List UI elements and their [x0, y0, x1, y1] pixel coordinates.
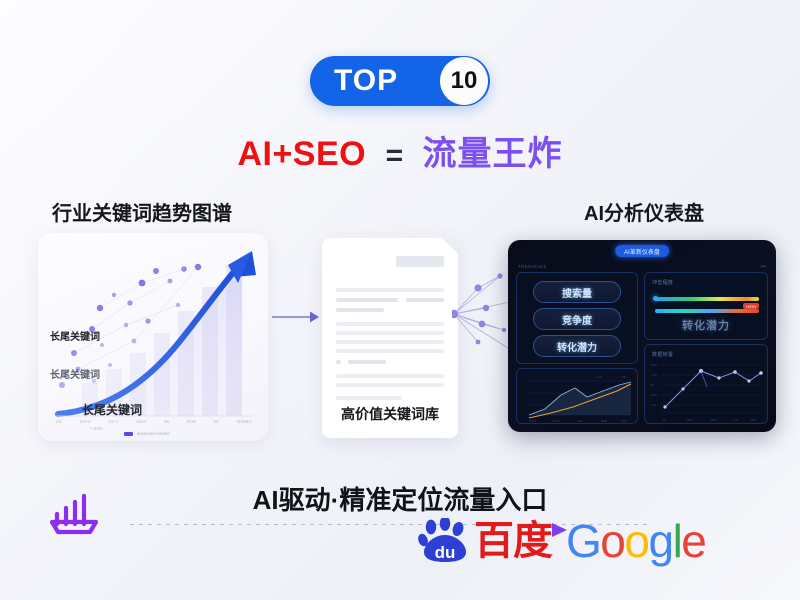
- google-letter-e: e: [681, 515, 705, 567]
- trend-axis-subtitle: + 63tn: [90, 426, 103, 431]
- legend-label: keyword-volume: [137, 431, 170, 436]
- metric-pill-search-volume[interactable]: 搜索量: [533, 281, 621, 303]
- area-chart-panel: PV-1K11.5K 4.8K9Kdp 1507 —— 1.0K—— 3.8K: [516, 368, 638, 424]
- google-letter-o1: o: [600, 515, 624, 567]
- google-letter-g2: g: [648, 515, 672, 567]
- doc-text-line: [348, 360, 386, 364]
- page-fold-icon: [442, 238, 458, 254]
- axis-tick: 1844: [136, 419, 147, 424]
- svg-text:1507: 1507: [621, 419, 627, 423]
- bottom-tagline: AI驱动·精准定位流量入口: [0, 480, 800, 517]
- dashboard-topbar: AI革新仪表盘: [508, 240, 776, 262]
- trend-label-1: 长尾关键词: [50, 328, 100, 343]
- gauge-panel: 冲击程度 HIGH 转化潜力: [644, 272, 768, 340]
- top-rank-badge: TOP 10: [310, 56, 490, 106]
- doc-text-line: [406, 298, 444, 302]
- doc-text-line: [336, 288, 444, 292]
- svg-text:5K: 5K: [651, 383, 654, 387]
- dashboard-menu-icon[interactable]: •••: [761, 264, 766, 270]
- google-letter-g1: G: [566, 515, 600, 567]
- baidu-logo[interactable]: du 百度: [418, 518, 552, 564]
- doc-bullet-icon: [336, 360, 341, 364]
- doc-header-block: [396, 256, 444, 267]
- gauge-handle-icon[interactable]: [653, 296, 658, 301]
- metric-pill-competition[interactable]: 竞争度: [533, 308, 621, 330]
- axis-tick: 4K: [56, 419, 62, 424]
- doc-caption: 高价值关键词库: [322, 404, 458, 424]
- metric-pills-panel: 搜索量 竞争度 转化潜力: [516, 272, 638, 364]
- svg-text:11.5K: 11.5K: [553, 419, 560, 423]
- svg-text:5K14: 5K14: [711, 418, 718, 422]
- doc-text-line: [336, 322, 444, 326]
- svg-text:9Kdp: 9Kdp: [601, 419, 608, 423]
- doc-text-line: [336, 308, 384, 312]
- doc-text-line: [336, 331, 444, 335]
- axis-tick: 03.C: [109, 419, 119, 424]
- flow-arrow-right-icon: [272, 310, 320, 324]
- baidu-mark-text: du: [435, 543, 456, 562]
- doc-text-line: [336, 349, 444, 353]
- dashboard-brand: TRENDtrack: [518, 264, 546, 269]
- svg-text:PV-1K: PV-1K: [529, 419, 537, 423]
- search-engine-logos: du 百度 Google: [418, 518, 705, 564]
- trend-chart-card: 长尾关键词 长尾关键词 长尾关键词 4K 11K% 03.C 1844 4K 5…: [38, 233, 268, 441]
- doc-text-line: [336, 298, 398, 302]
- headline-right: 流量王炸: [423, 135, 563, 173]
- headline-equals: =: [386, 139, 404, 172]
- trend-label-3: 长尾关键词: [82, 401, 142, 418]
- headline-left: AI+SEO: [237, 135, 366, 173]
- google-letter-l: l: [673, 515, 682, 567]
- google-logo[interactable]: Google: [566, 518, 705, 564]
- node-network-graph: [452, 268, 514, 354]
- metric-pill-conversion[interactable]: 转化潜力: [533, 335, 621, 357]
- trend-label-2: 长尾关键词: [50, 366, 100, 381]
- svg-text:—— 1.0K: —— 1.0K: [591, 375, 603, 379]
- doc-text-line: [336, 396, 402, 400]
- svg-text:7.5K: 7.5K: [733, 418, 739, 422]
- right-section-title: AI分析仪表盘: [584, 197, 704, 226]
- ai-dashboard-panel: AI革新仪表盘 TRENDtrack ••• 搜索量 竞争度 转化潜力 PV-1…: [508, 240, 776, 432]
- doc-text-line: [336, 383, 444, 387]
- svg-text:9000: 9000: [651, 363, 657, 367]
- svg-text:7500: 7500: [651, 373, 657, 377]
- google-letter-o2: o: [624, 515, 648, 567]
- svg-text:—— 3.8K: —— 3.8K: [615, 375, 627, 379]
- doc-text-line: [336, 340, 444, 344]
- baidu-paw-icon: du: [418, 518, 472, 564]
- doc-text-line: [336, 374, 444, 378]
- axis-tick: 300MN: [236, 419, 252, 424]
- gauge-bar-primary: [655, 297, 759, 301]
- gauge-status-badge: HIGH: [743, 303, 759, 309]
- svg-text:9K0: 9K0: [751, 418, 756, 422]
- svg-text:3000: 3000: [651, 393, 657, 397]
- keyword-library-document-card: 高价值关键词库: [322, 238, 458, 438]
- line-panel-caption: 数据转置: [652, 351, 673, 358]
- dashboard-title-badge: AI革新仪表盘: [615, 245, 669, 257]
- gauge-bar-secondary: [655, 309, 759, 313]
- trend-axis-ticks: 4K 11K% 03.C 1844 4K 5kW 6K 300MN: [56, 419, 252, 424]
- legend-swatch-icon: [124, 432, 133, 436]
- top-badge-number: 10: [440, 57, 488, 105]
- svg-text:4.8K: 4.8K: [577, 419, 583, 423]
- axis-tick: 5kW: [187, 419, 197, 424]
- baidu-logo-text: 百度: [474, 521, 552, 561]
- axis-tick: 4K: [164, 419, 170, 424]
- axis-tick: 11K%: [79, 419, 91, 424]
- svg-text:3000: 3000: [687, 418, 693, 422]
- gauge-panel-caption: 冲击程度: [652, 279, 673, 286]
- top-badge-label: TOP: [334, 64, 398, 98]
- line-chart-panel: 数据转置 90007500 5K3000 1.5K 1K3000: [644, 344, 768, 424]
- svg-text:1K: 1K: [663, 418, 666, 422]
- trend-legend: keyword-volume: [124, 431, 170, 436]
- axis-tick: 6K: [214, 419, 220, 424]
- left-section-title: 行业关键词趋势图谱: [52, 197, 232, 226]
- area-chart-svg: PV-1K11.5K 4.8K9Kdp 1507 —— 1.0K—— 3.8K: [517, 369, 639, 425]
- svg-text:1.5K: 1.5K: [651, 403, 657, 407]
- gauge-watermark-text: 转化潜力: [645, 317, 767, 333]
- page-headline: AI+SEO = 流量王炸: [0, 126, 800, 175]
